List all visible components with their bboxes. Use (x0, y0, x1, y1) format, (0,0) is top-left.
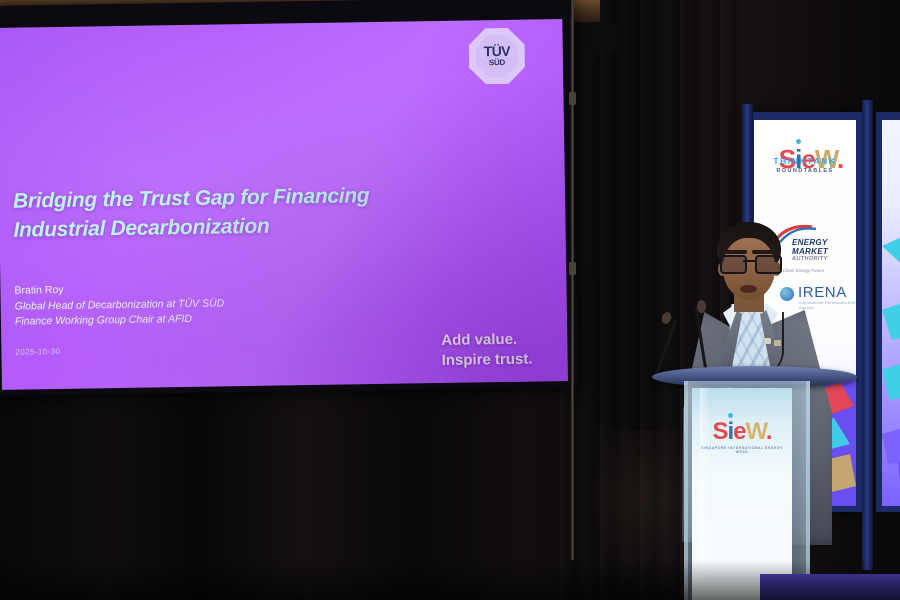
secondary-banner-panel (876, 112, 900, 512)
equipment-stand-pole (571, 0, 574, 560)
secondary-pattern-svg (882, 206, 900, 506)
podium-logo-subtitle: SINGAPORE INTERNATIONAL ENERGY WEEK (697, 446, 787, 454)
slide-tagline: Add value. Inspire trust. (441, 330, 532, 371)
stand-clamp-upper (569, 92, 576, 105)
speaker-mouth (740, 285, 757, 293)
podium-siew-logo: SieW. SINGAPORE INTERNATIONAL ENERGY WEE… (697, 420, 787, 454)
projection-screen: TÜV SÜD Bridging the Trust Gap for Finan… (0, 0, 578, 396)
tuv-sud-logo: TÜV SÜD (468, 28, 525, 85)
eyeglasses-icon (720, 255, 778, 270)
tuv-logo-bottom-text: SÜD (469, 58, 525, 68)
siew-letter-i: i (727, 418, 733, 445)
banner-subtitle-roundtables: ROUNDTABLES (754, 168, 856, 174)
glasses-bridge (743, 260, 755, 262)
secondary-geometric-ornament (882, 206, 900, 506)
microphone-head-right (697, 300, 706, 313)
siew-letter-s: S (712, 418, 727, 445)
stand-clamp-lower (569, 262, 576, 275)
presenter-name: Bratin Roy (14, 285, 63, 297)
tagline-line-1: Add value. (441, 330, 532, 351)
banner-frame-divider (862, 100, 873, 570)
siew-letter-.: . (766, 418, 772, 445)
siew-letter-w: W (746, 418, 766, 445)
slide-title: Bridging the Trust Gap for Financing Ind… (13, 181, 434, 246)
siew-letter-e: e (733, 418, 745, 445)
slide-surface: TÜV SÜD Bridging the Trust Gap for Finan… (0, 19, 568, 390)
foreground-shadow (0, 560, 900, 600)
conference-photo-scene: TÜV SÜD Bridging the Trust Gap for Finan… (0, 0, 900, 600)
speaker-brow-right (752, 250, 774, 254)
presenter-role: Global Head of Decarbonization at TÜV SÜ… (15, 296, 225, 330)
slide-date: 2025-10-30 (15, 347, 60, 357)
tagline-line-2: Inspire trust. (441, 349, 532, 370)
lens-left (720, 255, 747, 274)
siew-i-dot-icon (796, 139, 801, 144)
speaker-brow-left (725, 250, 747, 254)
podium-logo-letters: SieW. (697, 420, 787, 444)
lens-right (755, 255, 782, 274)
siew-i-dot-icon (728, 413, 733, 418)
secondary-banner-artwork (882, 120, 900, 506)
banner-subtitle-thinktank: THINKTANK (754, 156, 856, 166)
